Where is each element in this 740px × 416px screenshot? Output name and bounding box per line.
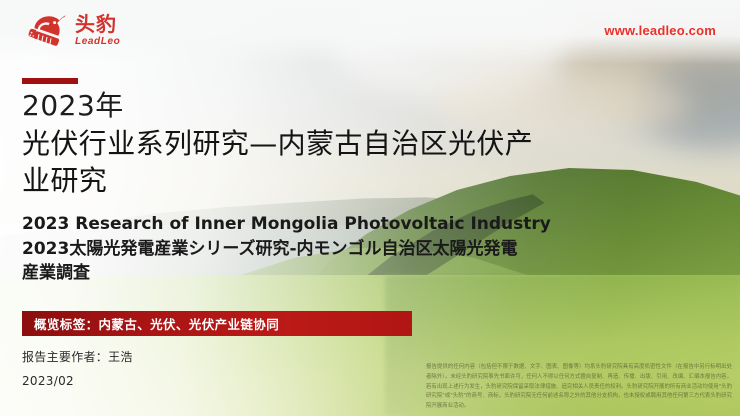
leadleo-logo[interactable]: 头豹 LeadLeo <box>24 10 120 48</box>
header-bar: 头豹 LeadLeo www.leadleo.com <box>0 0 740 58</box>
title-japanese-line-2: 産業調査 <box>22 261 642 286</box>
report-date: 2023/02 <box>22 374 133 388</box>
report-cover-slide: 头豹 LeadLeo www.leadleo.com 2023年 光伏行业系列研… <box>0 0 740 416</box>
title-japanese-line-1: 2023太陽光発電産業シリーズ研究-内モンゴル自治区太陽光発電 <box>22 237 642 262</box>
title-accent-bar <box>22 78 78 84</box>
title-main-line-1: 光伏行业系列研究—内蒙古自治区光伏产 <box>22 125 642 163</box>
title-block: 2023年 光伏行业系列研究—内蒙古自治区光伏产 业研究 2023 Resear… <box>22 88 642 286</box>
logo-en-text: LeadLeo <box>75 37 120 47</box>
copyright-disclaimer: 报告提供的任何内容（包括但不限于数据、文字、图表、图像等）均系头豹研究院具有高度… <box>426 363 732 412</box>
overview-tag-label: 概览标签：内蒙古、光伏、光伏产业链协同 <box>22 314 279 333</box>
title-year: 2023年 <box>22 88 642 125</box>
website-url[interactable]: www.leadleo.com <box>604 23 716 38</box>
report-meta: 报告主要作者：王浩 2023/02 <box>22 348 133 388</box>
title-english: 2023 Research of Inner Mongolia Photovol… <box>22 212 642 237</box>
leopard-head-icon <box>24 10 68 48</box>
logo-cn-text: 头豹 <box>75 14 120 34</box>
report-author: 报告主要作者：王浩 <box>22 348 133 365</box>
overview-tag-bar[interactable]: 概览标签：内蒙古、光伏、光伏产业链协同 <box>22 311 412 336</box>
title-main-line-2: 业研究 <box>22 162 642 200</box>
